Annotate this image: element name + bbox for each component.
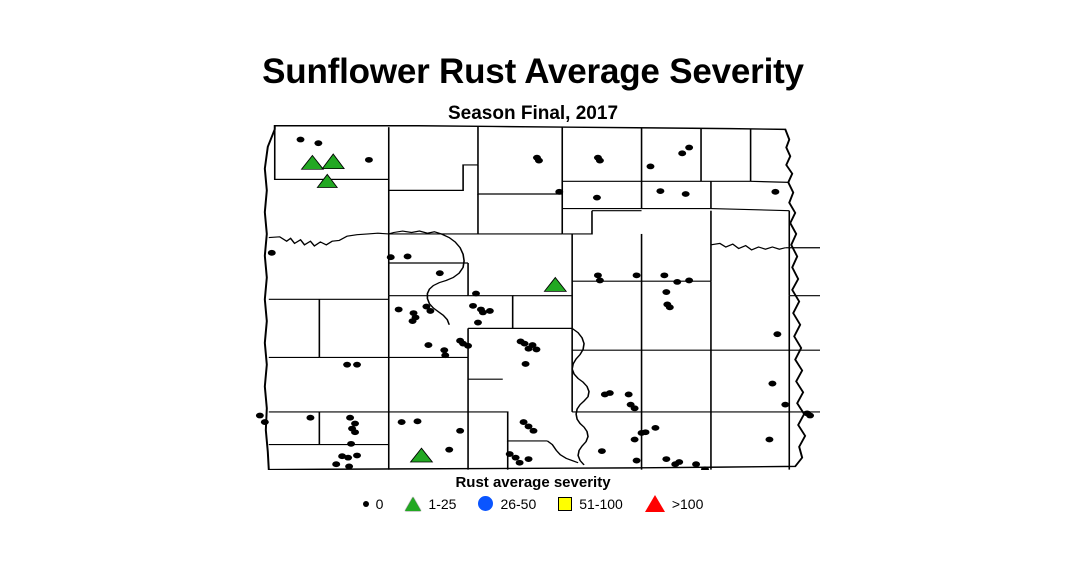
data-point	[522, 361, 530, 367]
data-point	[596, 158, 604, 164]
legend-item-0[interactable]: 0	[363, 496, 384, 512]
legend-item-26-50[interactable]: 26-50	[478, 496, 536, 512]
figure-root: Sunflower Rust Average Severity Season F…	[0, 0, 1066, 565]
data-point	[306, 415, 314, 421]
data-point	[666, 304, 674, 310]
data-point	[771, 189, 779, 195]
data-point	[426, 308, 434, 314]
legend-item-1-25[interactable]: 1-25	[405, 496, 456, 512]
data-point	[479, 309, 487, 315]
data-point	[594, 272, 602, 278]
data-point	[662, 456, 670, 462]
black-dot-icon	[363, 501, 369, 507]
data-point	[773, 331, 781, 337]
legend-label-26-50: 26-50	[500, 496, 536, 512]
data-point	[651, 425, 659, 431]
data-point	[314, 140, 322, 146]
legend-title: Rust average severity	[0, 474, 1066, 491]
data-point	[656, 188, 664, 194]
data-point	[441, 352, 449, 358]
data-point	[424, 342, 432, 348]
data-point	[346, 415, 354, 421]
data-point	[486, 308, 494, 314]
blue-circle-icon	[478, 496, 493, 511]
data-point	[256, 413, 264, 419]
data-point	[533, 347, 541, 353]
data-point	[678, 150, 686, 156]
data-point	[474, 320, 482, 326]
yellow-square-icon	[558, 497, 572, 511]
legend-label-1-25: 1-25	[428, 496, 456, 512]
data-point	[436, 270, 444, 276]
page-subtitle: Season Final, 2017	[0, 103, 1066, 125]
data-point	[685, 278, 693, 284]
page-title: Sunflower Rust Average Severity	[0, 52, 1066, 92]
north-dakota-map	[245, 125, 820, 470]
data-point	[398, 419, 406, 425]
data-point	[469, 303, 477, 309]
data-point	[343, 362, 351, 368]
data-point	[675, 459, 683, 465]
data-point	[395, 307, 403, 313]
data-point	[781, 402, 789, 408]
data-point	[409, 318, 417, 324]
data-point	[555, 189, 563, 195]
legend-label-over-100: >100	[672, 496, 704, 512]
data-point	[365, 157, 373, 163]
data-point	[768, 381, 776, 387]
data-point	[642, 429, 650, 435]
green-triangle-icon	[405, 497, 421, 511]
data-point	[353, 362, 361, 368]
data-point	[625, 392, 633, 398]
data-point	[631, 405, 639, 411]
legend-items: 0 1-25 26-50 51-100 >100	[0, 495, 1066, 512]
data-point	[353, 453, 361, 459]
data-point	[332, 461, 340, 467]
data-point	[440, 347, 448, 353]
data-point	[682, 191, 690, 197]
data-point	[387, 254, 395, 260]
data-point	[525, 456, 533, 462]
data-point	[404, 254, 412, 260]
data-point	[347, 441, 355, 447]
data-point	[633, 458, 641, 464]
data-point	[535, 158, 543, 164]
data-point	[516, 460, 524, 466]
data-point	[530, 428, 538, 434]
data-point	[692, 461, 700, 467]
map-legend: Rust average severity 0 1-25 26-50 51-10…	[0, 474, 1066, 512]
data-point	[647, 163, 655, 169]
legend-label-0: 0	[376, 496, 384, 512]
data-point	[685, 145, 693, 151]
data-point	[472, 291, 480, 297]
red-triangle-icon	[645, 495, 665, 512]
data-point	[261, 419, 269, 425]
data-point	[464, 343, 472, 349]
legend-item-51-100[interactable]: 51-100	[558, 496, 623, 512]
data-point	[631, 437, 639, 443]
data-point	[414, 418, 422, 424]
data-point	[660, 272, 668, 278]
data-point	[351, 429, 359, 435]
data-point	[662, 289, 670, 295]
data-point	[593, 195, 601, 201]
data-point	[765, 437, 773, 443]
data-point	[596, 278, 604, 284]
data-point	[521, 341, 529, 347]
data-point	[633, 272, 641, 278]
data-point	[806, 413, 814, 419]
data-point	[344, 455, 352, 461]
data-point	[512, 455, 520, 461]
legend-label-51-100: 51-100	[579, 496, 623, 512]
data-point	[673, 279, 681, 285]
data-point	[606, 390, 614, 396]
data-point	[351, 421, 359, 427]
data-point	[598, 448, 606, 454]
data-point	[268, 250, 276, 256]
data-point	[445, 447, 453, 453]
data-point	[345, 463, 353, 469]
legend-item-over-100[interactable]: >100	[645, 495, 704, 512]
data-point	[456, 428, 464, 434]
data-point	[297, 137, 305, 143]
map-svg	[245, 125, 820, 470]
